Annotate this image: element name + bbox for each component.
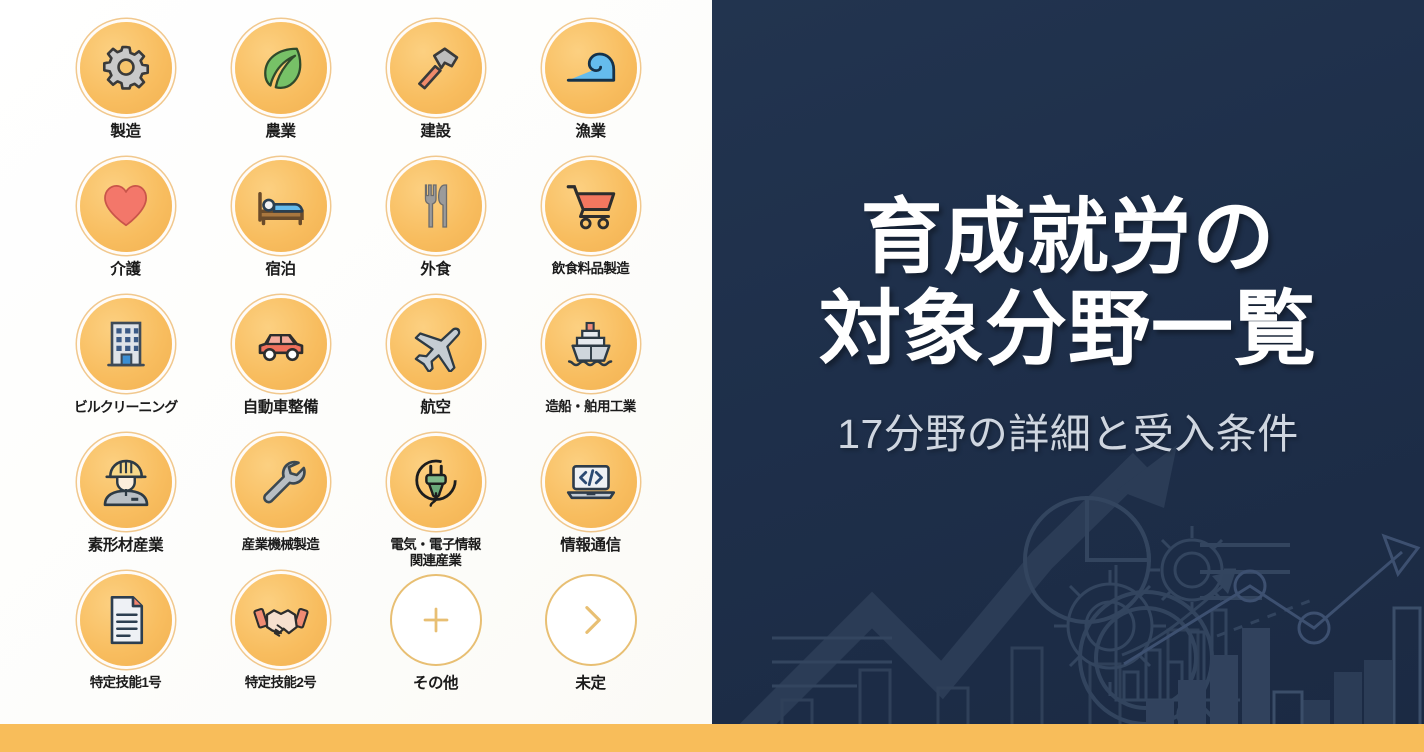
field-item[interactable]: 未定 <box>513 574 668 712</box>
field-item[interactable]: ビルクリーニング <box>48 298 203 436</box>
field-label: 自動車整備 <box>243 399 319 417</box>
airplane-icon <box>390 298 482 390</box>
field-label: 航空 <box>420 399 450 417</box>
field-item[interactable]: 電気・電子情報 関連産業 <box>358 436 513 574</box>
shopping-cart-icon <box>545 160 637 252</box>
plus-icon <box>390 574 482 666</box>
handshake-icon <box>235 574 327 666</box>
field-item[interactable]: 航空 <box>358 298 513 436</box>
building-icon <box>80 298 172 390</box>
car-icon <box>235 298 327 390</box>
field-icon-grid: 製造農業建設漁業介護宿泊外食飲食料品製造ビルクリーニング自動車整備航空造船・舶用… <box>48 22 668 712</box>
document-icon <box>80 574 172 666</box>
wrench-icon <box>235 436 327 528</box>
worker-icon <box>80 436 172 528</box>
heart-icon <box>80 160 172 252</box>
field-item[interactable]: その他 <box>358 574 513 712</box>
field-item[interactable]: 情報通信 <box>513 436 668 574</box>
field-label: 造船・舶用工業 <box>545 399 635 415</box>
hammer-icon <box>390 22 482 114</box>
right-panel: 育成就労の 対象分野一覧 17分野の詳細と受入条件 <box>712 0 1424 724</box>
field-label: 建設 <box>420 123 450 141</box>
field-item[interactable]: 産業機械製造 <box>203 436 358 574</box>
ship-icon <box>545 298 637 390</box>
field-label: 産業機械製造 <box>242 537 319 553</box>
field-label: 製造 <box>110 123 140 141</box>
page-title-line-1: 育成就労の <box>860 192 1275 284</box>
field-label: 特定技能2号 <box>245 675 316 691</box>
gear-icon <box>80 22 172 114</box>
field-label: 未定 <box>575 675 605 693</box>
field-item[interactable]: 農業 <box>203 22 358 160</box>
field-item[interactable]: 自動車整備 <box>203 298 358 436</box>
field-item[interactable]: 製造 <box>48 22 203 160</box>
field-item[interactable]: 建設 <box>358 22 513 160</box>
field-label: 特定技能1号 <box>90 675 161 691</box>
bottom-accent-bar <box>0 724 1424 752</box>
field-item[interactable]: 外食 <box>358 160 513 298</box>
field-label: その他 <box>413 675 458 693</box>
field-item[interactable]: 宿泊 <box>203 160 358 298</box>
field-label: 漁業 <box>575 123 605 141</box>
field-item[interactable]: 素形材産業 <box>48 436 203 574</box>
field-label: 情報通信 <box>560 537 620 555</box>
left-panel: 製造農業建設漁業介護宿泊外食飲食料品製造ビルクリーニング自動車整備航空造船・舶用… <box>0 0 712 724</box>
field-item[interactable]: 特定技能1号 <box>48 574 203 712</box>
chevron-right-icon <box>545 574 637 666</box>
field-item[interactable]: 漁業 <box>513 22 668 160</box>
plug-icon <box>390 436 482 528</box>
bed-icon <box>235 160 327 252</box>
leaf-icon <box>235 22 327 114</box>
page-title-line-2: 対象分野一覧 <box>819 284 1317 376</box>
field-label: 飲食料品製造 <box>552 261 629 277</box>
field-label: 電気・電子情報 関連産業 <box>390 537 480 569</box>
field-item[interactable]: 飲食料品製造 <box>513 160 668 298</box>
page-subtitle: 17分野の詳細と受入条件 <box>837 400 1299 460</box>
wave-icon <box>545 22 637 114</box>
field-label: 介護 <box>110 261 140 279</box>
right-content: 育成就労の 対象分野一覧 17分野の詳細と受入条件 <box>712 0 1424 724</box>
field-label: 外食 <box>420 261 450 279</box>
infographic-root: 製造農業建設漁業介護宿泊外食飲食料品製造ビルクリーニング自動車整備航空造船・舶用… <box>0 0 1424 752</box>
field-label: 農業 <box>265 123 295 141</box>
field-item[interactable]: 造船・舶用工業 <box>513 298 668 436</box>
field-label: 素形材産業 <box>88 537 164 555</box>
field-item[interactable]: 介護 <box>48 160 203 298</box>
laptop-code-icon <box>545 436 637 528</box>
field-label: ビルクリーニング <box>74 399 177 416</box>
field-item[interactable]: 特定技能2号 <box>203 574 358 712</box>
field-label: 宿泊 <box>265 261 295 279</box>
cutlery-icon <box>390 160 482 252</box>
